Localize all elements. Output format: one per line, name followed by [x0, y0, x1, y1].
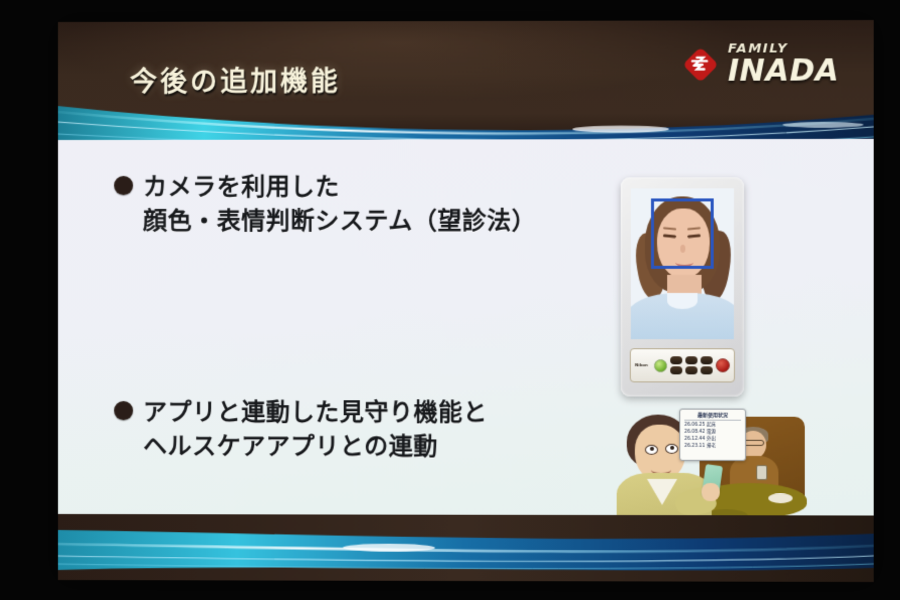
- brand-logo-text: FAMILY INADA: [728, 42, 839, 87]
- record-button[interactable]: [716, 358, 730, 372]
- plate: [768, 493, 792, 503]
- projected-screen-photo: 今後の追加機能 FAMILY INADA: [0, 0, 900, 600]
- woman-hand: [702, 483, 720, 501]
- usage-status-row: 26.23.11 帰宅: [684, 443, 741, 450]
- device-oval-button[interactable]: [685, 366, 697, 374]
- device-control-panel: Nikon: [630, 348, 735, 382]
- bullet-dot-icon: [114, 176, 133, 195]
- device-oval-button[interactable]: [670, 366, 682, 374]
- brand-logo: FAMILY INADA: [682, 42, 839, 87]
- usage-status-popup: 最新使用状況 26.06.25 起床 26.08.42 電源 26.12.44 …: [679, 409, 746, 461]
- bullet-item-1: カメラを利用した 顔色・表情判断システム（望診法）: [114, 169, 536, 238]
- bullet-1-line-2: 顔色・表情判断システム（望診法）: [143, 204, 536, 238]
- device-oval-button[interactable]: [670, 356, 682, 364]
- power-button[interactable]: [654, 359, 667, 372]
- brand-name-label: INADA: [728, 56, 839, 86]
- device-screen: [631, 188, 734, 339]
- woman-pupil-right: [670, 446, 674, 450]
- device-button-grid: [670, 356, 712, 374]
- device-oval-button[interactable]: [701, 356, 713, 364]
- device-oval-button[interactable]: [685, 356, 697, 364]
- usage-status-row: 26.12.44 外出: [684, 436, 741, 443]
- bullet-2-line-2: ヘルスケアアプリとの連動: [143, 429, 488, 464]
- device-oval-button[interactable]: [701, 366, 713, 374]
- bullet-2-line-1: アプリと連動した見守り機能と: [143, 395, 488, 429]
- usage-status-title: 最新使用状況: [684, 413, 741, 421]
- device-shell: Nikon: [621, 177, 744, 396]
- elder-phone: [756, 465, 767, 480]
- page-title: 今後の追加機能: [130, 59, 341, 98]
- device-brand-label: Nikon: [635, 363, 651, 367]
- usage-status-row: 26.08.42 電源: [684, 429, 741, 436]
- bullet-2-text: アプリと連動した見守り機能と ヘルスケアアプリとの連動: [143, 395, 488, 464]
- bullet-item-2: アプリと連動した見守り機能と ヘルスケアアプリとの連動: [114, 395, 488, 464]
- woman-pupil-left: [650, 447, 654, 451]
- bullet-1-text: カメラを利用した 顔色・表情判断システム（望診法）: [143, 169, 536, 238]
- usage-status-row: 26.06.25 起床: [684, 422, 741, 429]
- slide-header: 今後の追加機能 FAMILY INADA: [58, 20, 874, 140]
- bullet-1-line-1: カメラを利用した: [143, 169, 536, 204]
- presentation-slide: 今後の追加機能 FAMILY INADA: [58, 20, 874, 582]
- remote-monitoring-illustration: 最新使用状況 26.06.25 起床 26.08.42 電源 26.12.44 …: [617, 409, 809, 536]
- slide-body: カメラを利用した 顔色・表情判断システム（望診法） アプリと連動した見守り機能と…: [58, 139, 874, 536]
- bullet-dot-icon: [114, 401, 133, 420]
- inada-diamond-icon: [682, 47, 718, 83]
- face-detection-box: [651, 198, 714, 268]
